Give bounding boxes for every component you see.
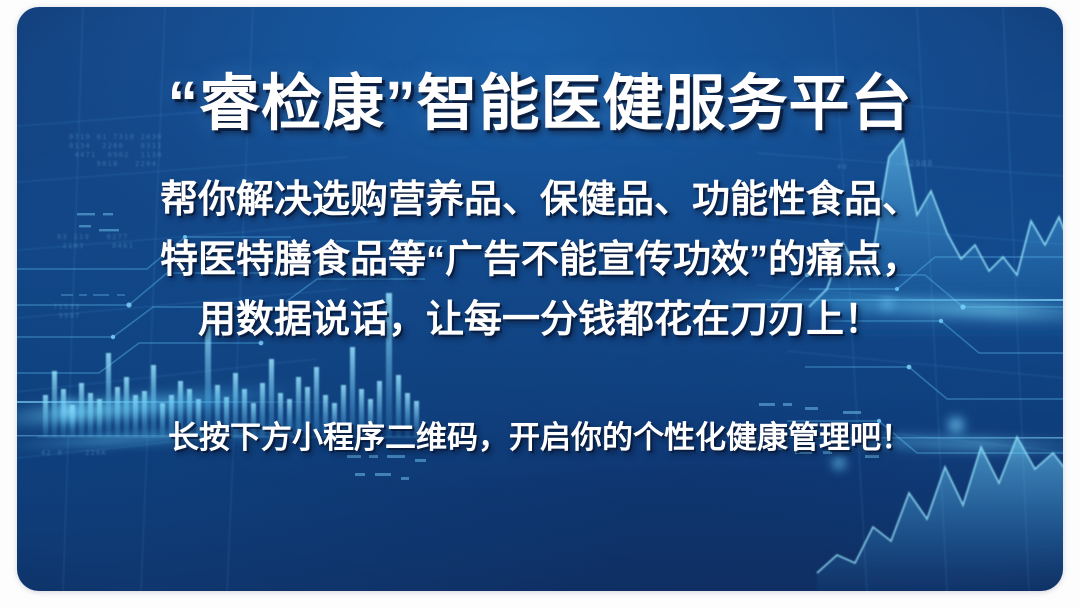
call-to-action-text: 长按下方小程序二维码，开启你的个性化健康管理吧！ [168,416,912,460]
glow-streak-right-2 [703,431,1063,454]
ghost-readout-right-2: 40 [837,163,848,172]
grid-lines-right [733,7,1063,591]
poster-canvas: 0719 01 7318 2036 0134 2280 0311 4471 09… [0,0,1080,608]
poster-card: 0719 01 7318 2036 0134 2280 0311 4471 09… [17,7,1063,591]
glow-node-b [51,399,85,421]
glow-node-c [943,415,969,435]
ghost-readout-top: 0719 01 7318 2036 0134 2280 0311 4471 09… [69,133,163,169]
ghost-readout-mid: 03 119 0277 2183 0461 [57,233,134,251]
background-graphics-svg [17,7,1063,591]
glow-node-d [829,455,849,471]
glow-streak-right [663,289,1063,323]
body-line-1: 帮你解决选购营养品、保健品、功能性食品、 [160,170,920,230]
data-scan-lines [17,299,1063,439]
page-title: “睿检康”智能医健服务平台 [167,73,912,134]
circuit-traces-right [657,257,1063,453]
grid-lines-left [17,7,377,591]
circuit-nodes-left [111,235,305,345]
circuit-nodes-right [805,273,966,423]
glow-node-a [239,181,257,199]
poster-content: “睿检康”智能医健服务平台 帮你解决选购营养品、保健品、功能性食品、 特医特膳食… [17,7,1063,591]
ghost-readout-low: 71533 9907 [53,303,81,321]
data-chips [77,213,879,480]
glow-node-e [879,297,895,311]
body-line-2: 特医特膳食品等“广告不能宣传功效”的痛点， [160,230,920,290]
area-chart-lower-right [817,437,1063,591]
area-chart-upper-right [809,139,1063,337]
body-copy: 帮你解决选购营养品、保健品、功能性食品、 特医特膳食品等“广告不能宣传功效”的痛… [160,170,920,350]
ghost-readout-bottom: 42 8 226K [41,449,107,458]
background-art: 0719 01 7318 2036 0134 2280 0311 4471 09… [17,7,1063,591]
glow-streak-left [17,383,307,429]
circuit-traces-left [17,237,447,373]
glow-streak-left-2 [17,419,407,451]
body-line-3: 用数据说话，让每一分钱都花在刀刃上！ [160,290,920,350]
ghost-readout-right: 92908 [903,159,934,168]
bar-chart [37,293,427,437]
